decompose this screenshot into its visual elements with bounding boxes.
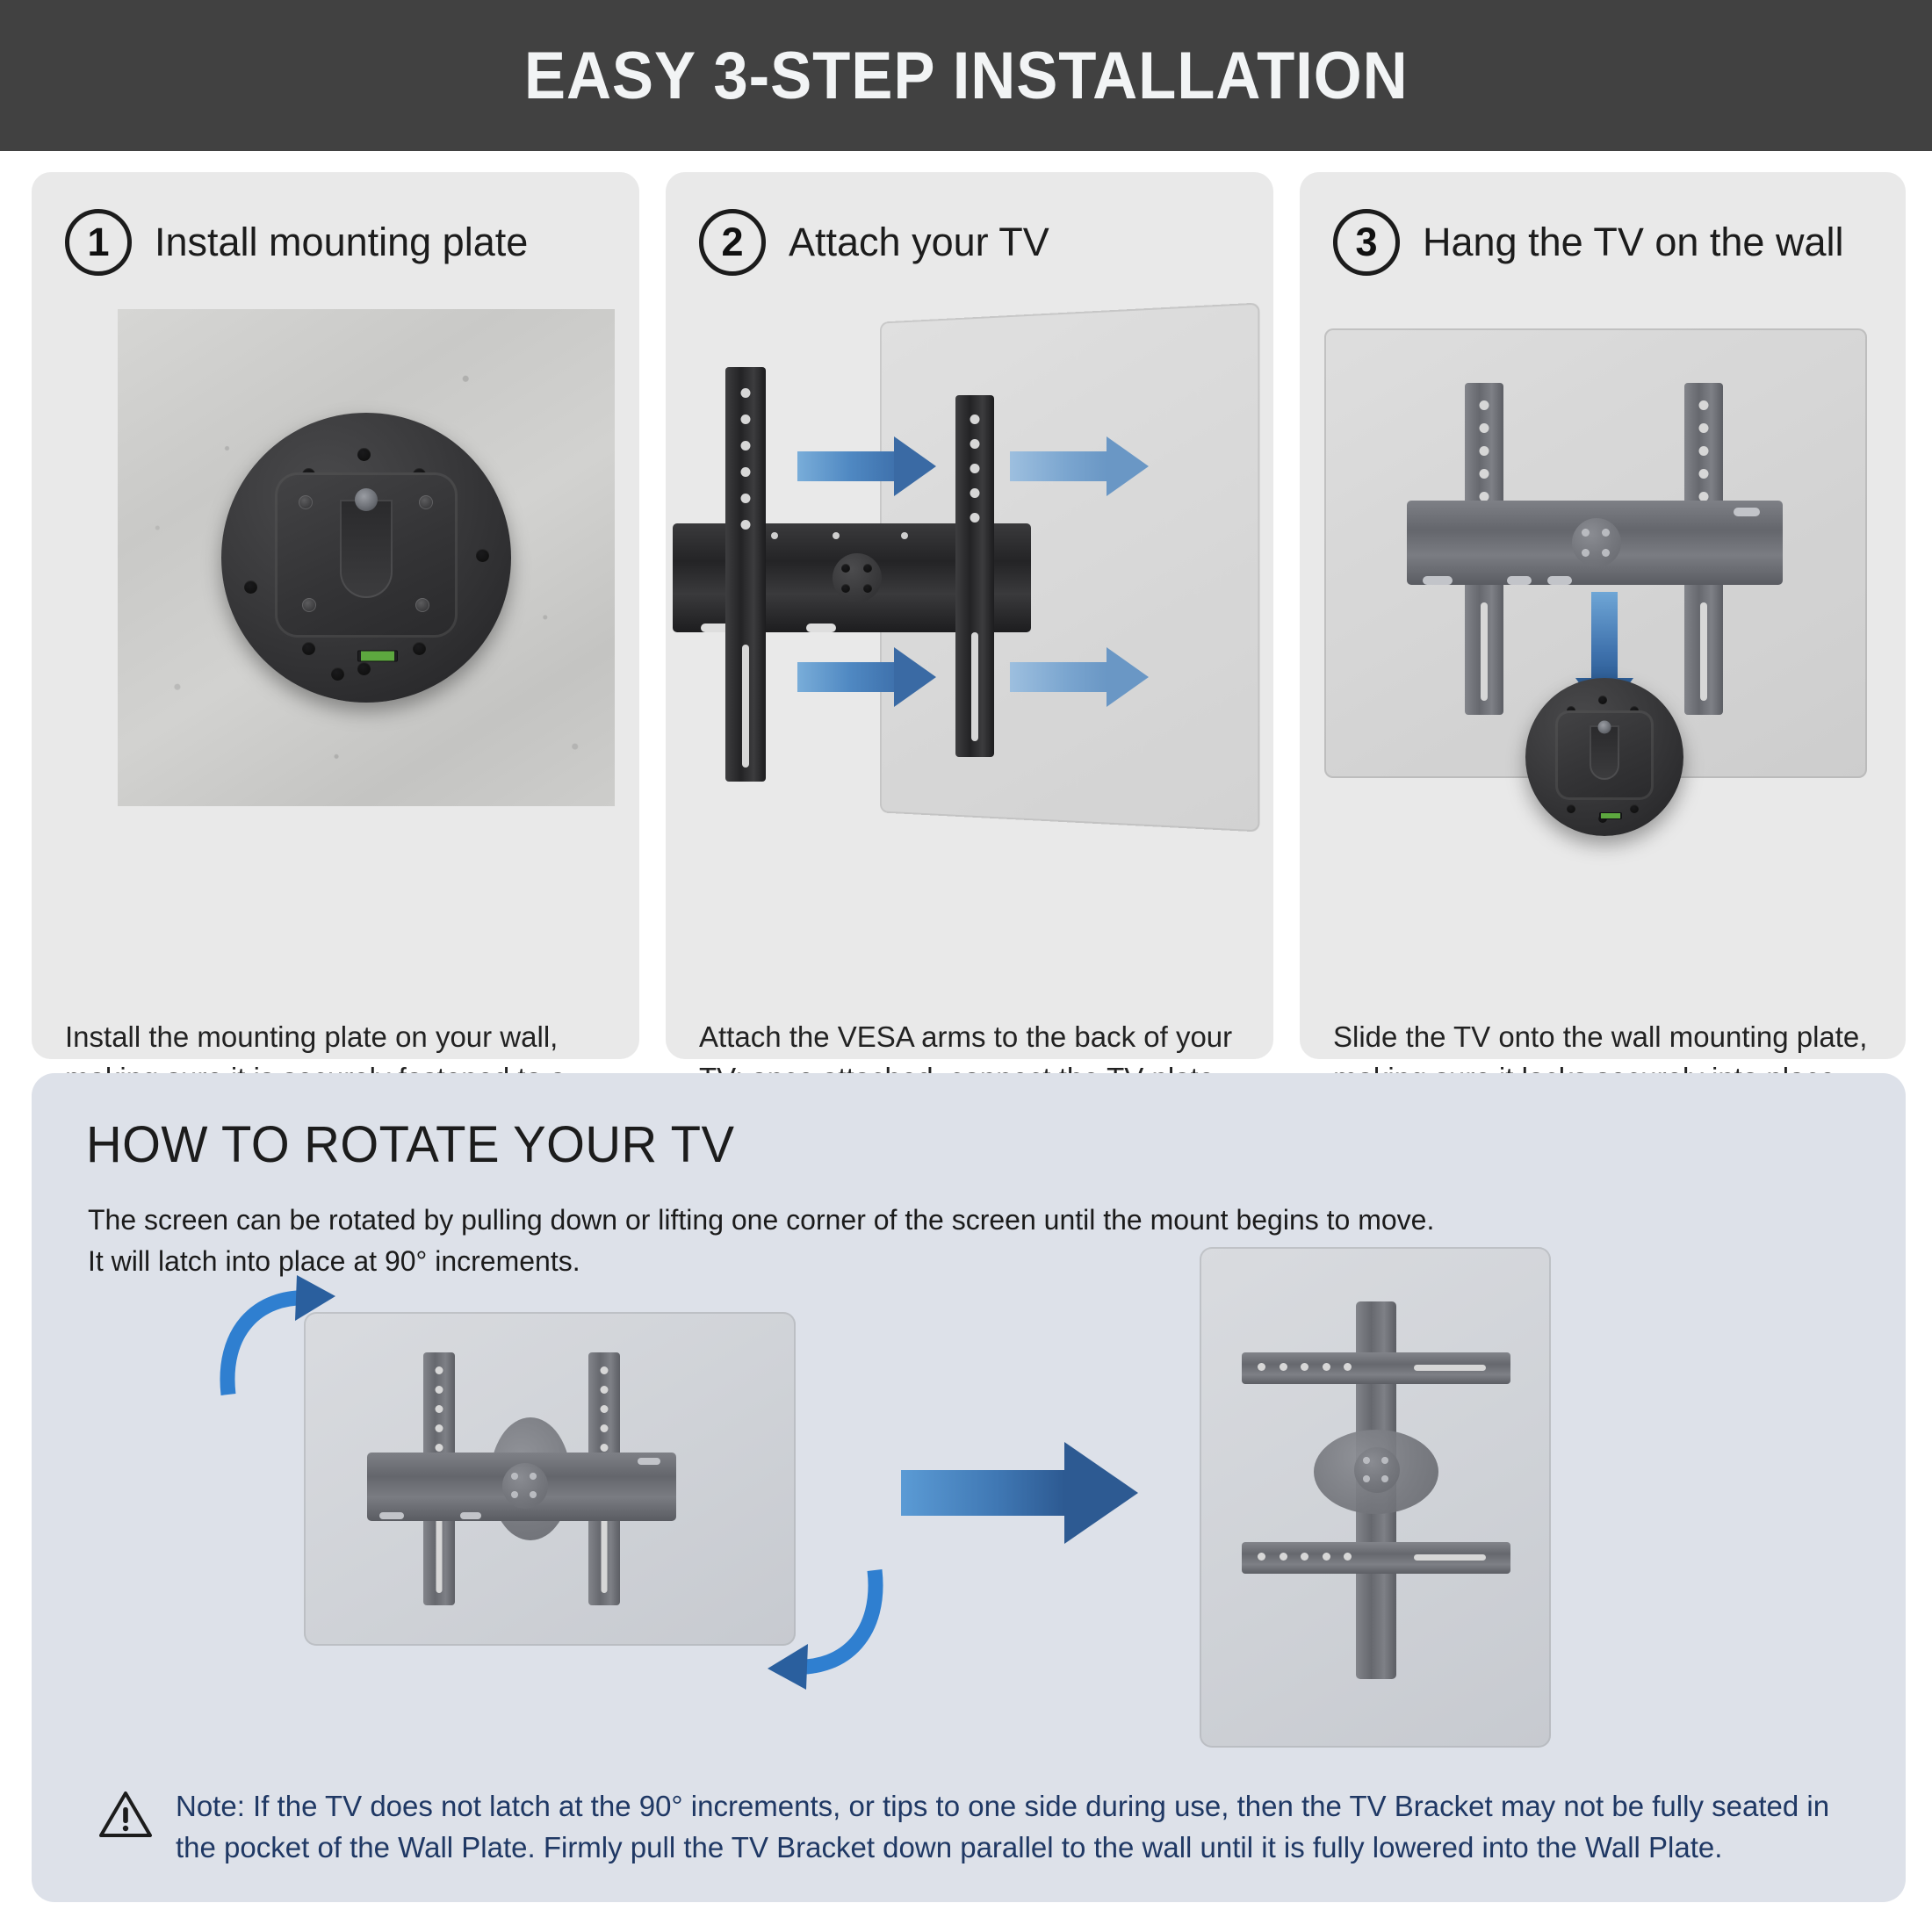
center-bolt xyxy=(355,488,378,511)
slide-arrow-top-inner xyxy=(797,446,936,487)
rotate-section-description: The screen can be rotated by pulling dow… xyxy=(88,1200,1809,1281)
rotate-arrow-clockwise xyxy=(759,1561,890,1693)
vesa-arm-left xyxy=(725,367,766,782)
vesa-center-disc-3 xyxy=(1572,518,1621,567)
u-slot xyxy=(340,500,393,598)
page-title: EASY 3-STEP INSTALLATION xyxy=(524,38,1409,114)
landscape-orientation-panel xyxy=(304,1312,796,1646)
portrait-orientation-panel xyxy=(1200,1247,1551,1748)
round-wall-plate xyxy=(221,413,511,703)
installation-guide-page: EASY 3-STEP INSTALLATION 1 Install mount… xyxy=(0,0,1932,1932)
step-number-badge-3: 3 xyxy=(1333,209,1400,276)
rotate-section-title: HOW TO ROTATE YOUR TV xyxy=(86,1115,735,1174)
slide-arrow-top-outer xyxy=(1010,446,1149,487)
vesa-arm-right xyxy=(955,395,994,757)
step-title-1: Install mounting plate xyxy=(155,220,528,265)
step-number-badge-1: 1 xyxy=(65,209,132,276)
round-wall-plate-3 xyxy=(1525,678,1683,836)
rotation-transition-arrow xyxy=(901,1451,1138,1535)
steps-row: 1 Install mounting plate xyxy=(0,172,1932,1059)
step-card-2: 2 Attach your TV xyxy=(666,172,1273,1059)
vesa-center-disc xyxy=(833,553,882,602)
rotate-description-line-1: The screen can be rotated by pulling dow… xyxy=(88,1200,1809,1241)
step-title-3: Hang the TV on the wall xyxy=(1423,220,1843,265)
step-2-header: 2 Attach your TV xyxy=(699,209,1049,276)
slide-arrow-bottom-outer xyxy=(1010,657,1149,697)
step-title-2: Attach your TV xyxy=(789,220,1049,265)
warning-note-text: Note: If the TV does not latch at the 90… xyxy=(176,1786,1853,1869)
rotate-arrow-counterclockwise xyxy=(213,1272,344,1403)
step-2-illustration xyxy=(666,297,1273,982)
step-1-illustration xyxy=(118,309,615,806)
rotate-section: HOW TO ROTATE YOUR TV The screen can be … xyxy=(32,1073,1906,1902)
bubble-level-icon xyxy=(357,651,398,662)
rotate-description-line-2: It will latch into place at 90° incremen… xyxy=(88,1241,1809,1282)
step-1-header: 1 Install mounting plate xyxy=(65,209,528,276)
step-3-illustration xyxy=(1300,297,1906,982)
warning-note: Note: If the TV does not latch at the 90… xyxy=(98,1786,1853,1869)
page-header: EASY 3-STEP INSTALLATION xyxy=(0,0,1932,151)
step-3-header: 3 Hang the TV on the wall xyxy=(1333,209,1843,276)
slide-arrow-bottom-inner xyxy=(797,657,936,697)
step-card-1: 1 Install mounting plate xyxy=(32,172,639,1059)
step-number-badge-2: 2 xyxy=(699,209,766,276)
step-card-3: 3 Hang the TV on the wall xyxy=(1300,172,1906,1059)
warning-triangle-icon xyxy=(98,1790,153,1839)
